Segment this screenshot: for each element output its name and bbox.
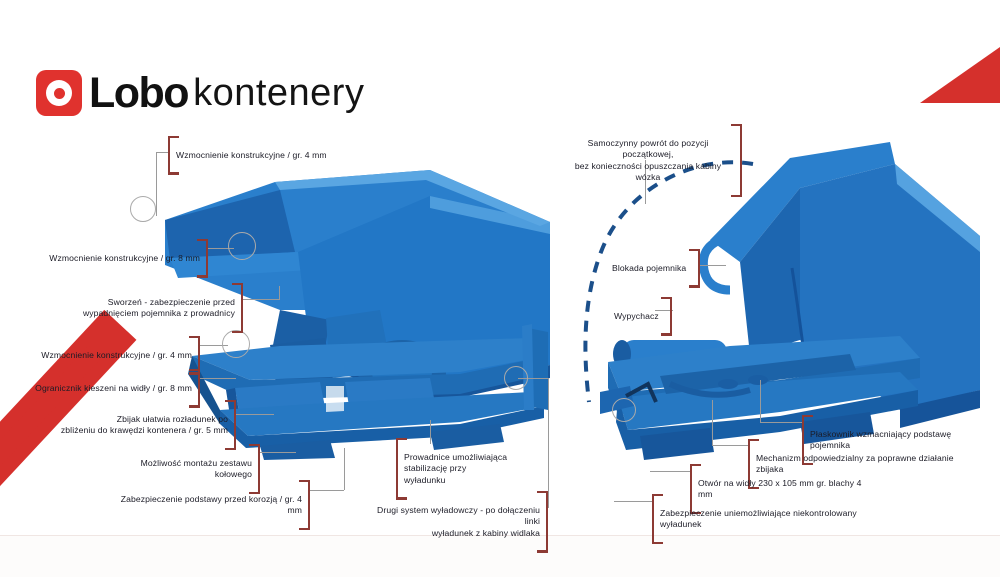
- brand-logo: Lobo kontenery: [36, 70, 364, 116]
- callout-r2-text: Blokada pojemnika: [606, 261, 698, 277]
- callout-l8[interactable]: Zabezpieczenie podstawy przed korozją / …: [110, 480, 310, 530]
- logo-dot: [54, 88, 65, 99]
- leader-line: [760, 380, 761, 422]
- leader-line: [279, 286, 280, 300]
- callout-l1[interactable]: Wzmocnienie konstrukcyjne / gr. 4 mm: [168, 136, 338, 175]
- callout-r3[interactable]: Wypychacz: [608, 297, 672, 336]
- leader-line: [760, 422, 802, 423]
- logo-ring: [46, 80, 72, 106]
- leader-line: [344, 448, 345, 490]
- callout-r7-text: Zabezpieczenie uniemożliwiające niekontr…: [654, 506, 868, 533]
- leader-line: [310, 490, 344, 491]
- callout-l5-text: Ogranicznik kieszeni na widły / gr. 8 mm: [20, 381, 198, 397]
- callout-r3-text: Wypychacz: [608, 309, 670, 325]
- leader-line: [712, 400, 713, 445]
- leader-line: [156, 152, 157, 216]
- callout-l4-text: Wzmocnienie konstrukcyjne / gr. 4 mm: [16, 348, 198, 364]
- callout-circle-mark: [228, 232, 256, 260]
- leader-line: [236, 414, 274, 415]
- callout-circle-mark: [504, 366, 528, 390]
- callout-circle-mark: [130, 196, 156, 222]
- callout-l1-text: Wzmocnienie konstrukcyjne / gr. 4 mm: [170, 148, 338, 164]
- callout-circle-mark: [612, 398, 636, 422]
- leader-line: [614, 501, 652, 502]
- leader-line: [548, 378, 549, 508]
- leader-line: [700, 265, 726, 266]
- leader-line: [650, 471, 690, 472]
- callout-l10[interactable]: Drugi system wyładowczy - po dołączeniu …: [362, 491, 548, 553]
- callout-r7[interactable]: Zabezpieczenie uniemożliwiające niekontr…: [652, 494, 868, 544]
- leader-line: [260, 452, 296, 453]
- leader-line: [712, 445, 748, 446]
- brand-name-primary: Lobo: [89, 70, 188, 116]
- callout-l7-text: Możliwość montażu zestawu kołowego: [108, 456, 258, 483]
- callout-l10-text: Drugi system wyładowczy - po dołączeniu …: [362, 503, 546, 542]
- callout-l3-text: Sworzeń - zabezpieczenie przed wypadnięc…: [58, 295, 241, 322]
- brand-name-secondary: kontenery: [193, 70, 364, 116]
- callout-l2[interactable]: Wzmocnienie konstrukcyjne / gr. 8 mm: [24, 239, 208, 278]
- callout-l9-text: Prowadnice umożliwiająca stabilizację pr…: [398, 450, 514, 489]
- callout-circle-mark: [222, 330, 250, 358]
- callout-l3[interactable]: Sworzeń - zabezpieczenie przed wypadnięc…: [58, 283, 243, 333]
- leader-line: [243, 299, 279, 300]
- callout-l6[interactable]: Zbijak ułatwia rozładunek po zbliżeniu d…: [42, 400, 236, 450]
- callout-l2-text: Wzmocnienie konstrukcyjne / gr. 8 mm: [24, 251, 206, 267]
- callout-l6-text: Zbijak ułatwia rozładunek po zbliżeniu d…: [42, 412, 234, 439]
- callout-l8-text: Zabezpieczenie podstawy przed korozją / …: [110, 492, 308, 519]
- leader-line: [200, 378, 236, 379]
- target-dot-icon: [36, 70, 82, 116]
- callout-r1-text: Samoczynny powrót do pozycji początkowej…: [556, 136, 740, 186]
- callout-r1[interactable]: Samoczynny powrót do pozycji początkowej…: [556, 124, 742, 197]
- poster-page: Lobo kontenery: [0, 0, 1000, 577]
- callout-r2[interactable]: Blokada pojemnika: [606, 249, 700, 288]
